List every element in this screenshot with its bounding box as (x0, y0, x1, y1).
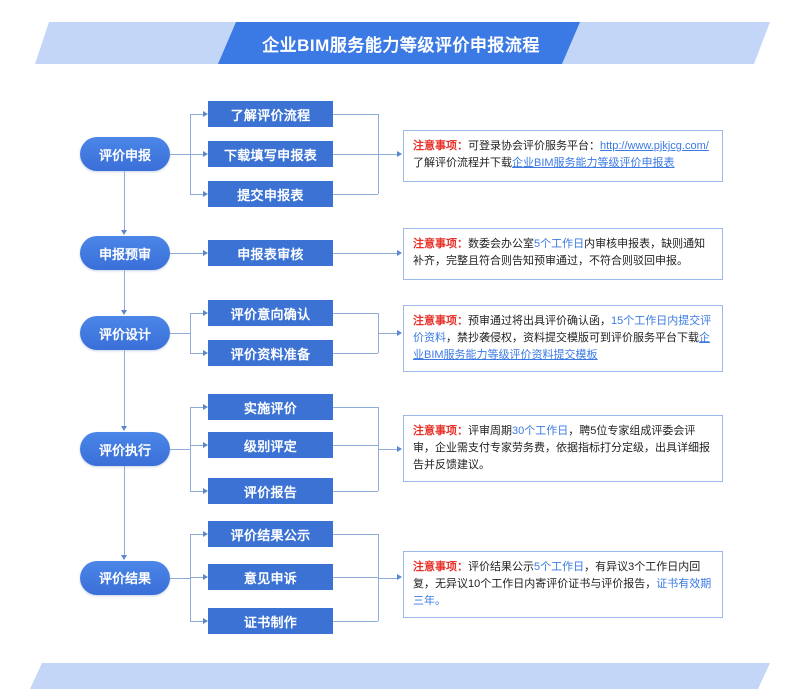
stage-spine-4 (124, 466, 125, 556)
task-box-5-1[interactable]: 评价结果公示 (208, 521, 333, 547)
connector-task-out-4-1 (333, 407, 378, 408)
connector-task-out-5-1 (333, 534, 378, 535)
task-box-5-2[interactable]: 意见申诉 (208, 564, 333, 590)
note-box-1: 注意事项：可登录协会评价服务平台：http://www.pjkjcg.com/了… (403, 130, 723, 182)
arrow-into-stage-3 (121, 310, 127, 315)
connector-to-task-4-3 (190, 491, 203, 492)
arrow-into-task-4-1 (203, 404, 208, 410)
arrow-into-task-4-2 (203, 442, 208, 448)
header-banner: 企业BIM服务能力等级评价申报流程 (0, 22, 800, 64)
connector-task-out-5-3 (333, 621, 378, 622)
arrow-into-task-5-1 (203, 531, 208, 537)
arrow-into-note-1 (397, 151, 402, 157)
arrow-into-note-2 (397, 250, 402, 256)
stage-spine-1 (124, 171, 125, 231)
stage-spine-2 (124, 270, 125, 311)
connector-stage-to-tasks-4 (170, 449, 190, 450)
note-3-part-1: 预审通过将出具评价确认函， (468, 315, 611, 327)
note-4-part-1: 评审周期 (468, 425, 512, 437)
connector-to-note-1 (378, 154, 398, 155)
note-5-part-1: 评价结果公示 (468, 561, 534, 573)
bracket-left-3 (190, 313, 191, 353)
arrow-into-stage-5 (121, 555, 127, 560)
arrow-into-task-2-1 (203, 250, 208, 256)
connector-to-task-3-2 (190, 353, 203, 354)
stage-pill-3[interactable]: 评价设计 (80, 316, 170, 350)
footer-decoration (30, 663, 770, 689)
arrow-into-task-5-3 (203, 618, 208, 624)
task-box-3-2[interactable]: 评价资料准备 (208, 340, 333, 366)
connector-to-task-1-2 (190, 154, 203, 155)
connector-task-out-1-3 (333, 194, 378, 195)
note-1-part-4-link[interactable]: 企业BIM服务能力等级评价申报表 (512, 157, 675, 169)
note-4-part-2: 30个工作日 (512, 425, 568, 437)
stage-pill-1[interactable]: 评价申报 (80, 137, 170, 171)
stage-pill-5[interactable]: 评价结果 (80, 561, 170, 595)
connector-to-note-4 (378, 449, 398, 450)
arrow-into-task-1-1 (203, 111, 208, 117)
connector-to-task-4-2 (190, 445, 203, 446)
connector-to-task-5-3 (190, 621, 203, 622)
task-box-1-2[interactable]: 下载填写申报表 (208, 141, 333, 167)
arrow-into-stage-4 (121, 426, 127, 431)
note-label-2: 注意事项： (413, 238, 468, 250)
connector-task-out-5-2 (333, 577, 378, 578)
task-box-4-2[interactable]: 级别评定 (208, 432, 333, 458)
note-label-5: 注意事项： (413, 561, 468, 573)
note-3-part-3: ，禁抄袭侵权，资料提交模版可到评价服务平台下载 (446, 332, 699, 344)
note-box-3: 注意事项：预审通过将出具评价确认函，15个工作日内提交评价资料，禁抄袭侵权，资料… (403, 305, 723, 372)
task-box-4-1[interactable]: 实施评价 (208, 394, 333, 420)
connector-stage-to-tasks-1 (170, 154, 190, 155)
connector-to-task-5-1 (190, 534, 203, 535)
connector-stage-to-tasks-5 (170, 578, 190, 579)
note-1-part-2-link[interactable]: http://www.pjkjcg.com/ (600, 140, 709, 152)
arrow-into-task-3-2 (203, 350, 208, 356)
stage-spine-3 (124, 350, 125, 427)
connector-stage-to-tasks-2 (170, 253, 190, 254)
arrow-into-stage-2 (121, 230, 127, 235)
task-box-2-1[interactable]: 申报表审核 (208, 240, 333, 266)
stage-pill-4[interactable]: 评价执行 (80, 432, 170, 466)
connector-task-out-3-1 (333, 313, 378, 314)
connector-task-out-4-2 (333, 445, 378, 446)
note-box-5: 注意事项：评价结果公示5个工作日，有异议3个工作日内回复，无异议10个工作日内寄… (403, 551, 723, 618)
connector-task-out-2-1 (333, 253, 378, 254)
connector-to-task-5-2 (190, 577, 203, 578)
note-5-part-2: 5个工作日 (534, 561, 584, 573)
arrow-into-task-1-3 (203, 191, 208, 197)
task-box-3-1[interactable]: 评价意向确认 (208, 300, 333, 326)
connector-to-task-4-1 (190, 407, 203, 408)
connector-task-out-1-2 (333, 154, 378, 155)
note-2-part-2: 5个工作日 (534, 238, 584, 250)
arrow-into-note-3 (397, 330, 402, 336)
note-label-3: 注意事项： (413, 315, 468, 327)
bracket-left-4 (190, 407, 191, 491)
arrow-into-note-4 (397, 446, 402, 452)
note-box-4: 注意事项：评审周期30个工作日，聘5位专家组成评委会评审，企业需支付专家劳务费，… (403, 415, 723, 482)
note-box-2: 注意事项：数委会办公室5个工作日内审核申报表，缺则通知补齐，完整且符合则告知预审… (403, 228, 723, 280)
note-1-part-3: 了解评价流程并下载 (413, 157, 512, 169)
connector-task-out-4-3 (333, 491, 378, 492)
connector-to-task-3-1 (190, 313, 203, 314)
connector-task-out-1-1 (333, 114, 378, 115)
connector-to-note-5 (378, 578, 398, 579)
connector-to-note-3 (378, 333, 398, 334)
banner-title-plate: 企业BIM服务能力等级评价申报流程 (218, 22, 580, 64)
arrow-into-task-5-2 (203, 574, 208, 580)
connector-to-note-2 (378, 253, 398, 254)
arrow-into-task-3-1 (203, 310, 208, 316)
note-1-part-1: 可登录协会评价服务平台： (468, 140, 600, 152)
stage-pill-2[interactable]: 申报预审 (80, 236, 170, 270)
task-box-1-1[interactable]: 了解评价流程 (208, 101, 333, 127)
task-box-5-3[interactable]: 证书制作 (208, 608, 333, 634)
note-label-4: 注意事项： (413, 425, 468, 437)
arrow-into-note-5 (397, 574, 402, 580)
arrow-into-task-1-2 (203, 151, 208, 157)
connector-to-task-1-3 (190, 194, 203, 195)
note-label-1: 注意事项： (413, 140, 468, 152)
page-title: 企业BIM服务能力等级评价申报流程 (258, 31, 540, 56)
connector-to-task-1-1 (190, 114, 203, 115)
task-box-4-3[interactable]: 评价报告 (208, 478, 333, 504)
connector-stage-to-tasks-3 (170, 333, 190, 334)
connector-to-task-2-1 (190, 253, 203, 254)
task-box-1-3[interactable]: 提交申报表 (208, 181, 333, 207)
arrow-into-task-4-3 (203, 488, 208, 494)
note-2-part-1: 数委会办公室 (468, 238, 534, 250)
connector-task-out-3-2 (333, 353, 378, 354)
